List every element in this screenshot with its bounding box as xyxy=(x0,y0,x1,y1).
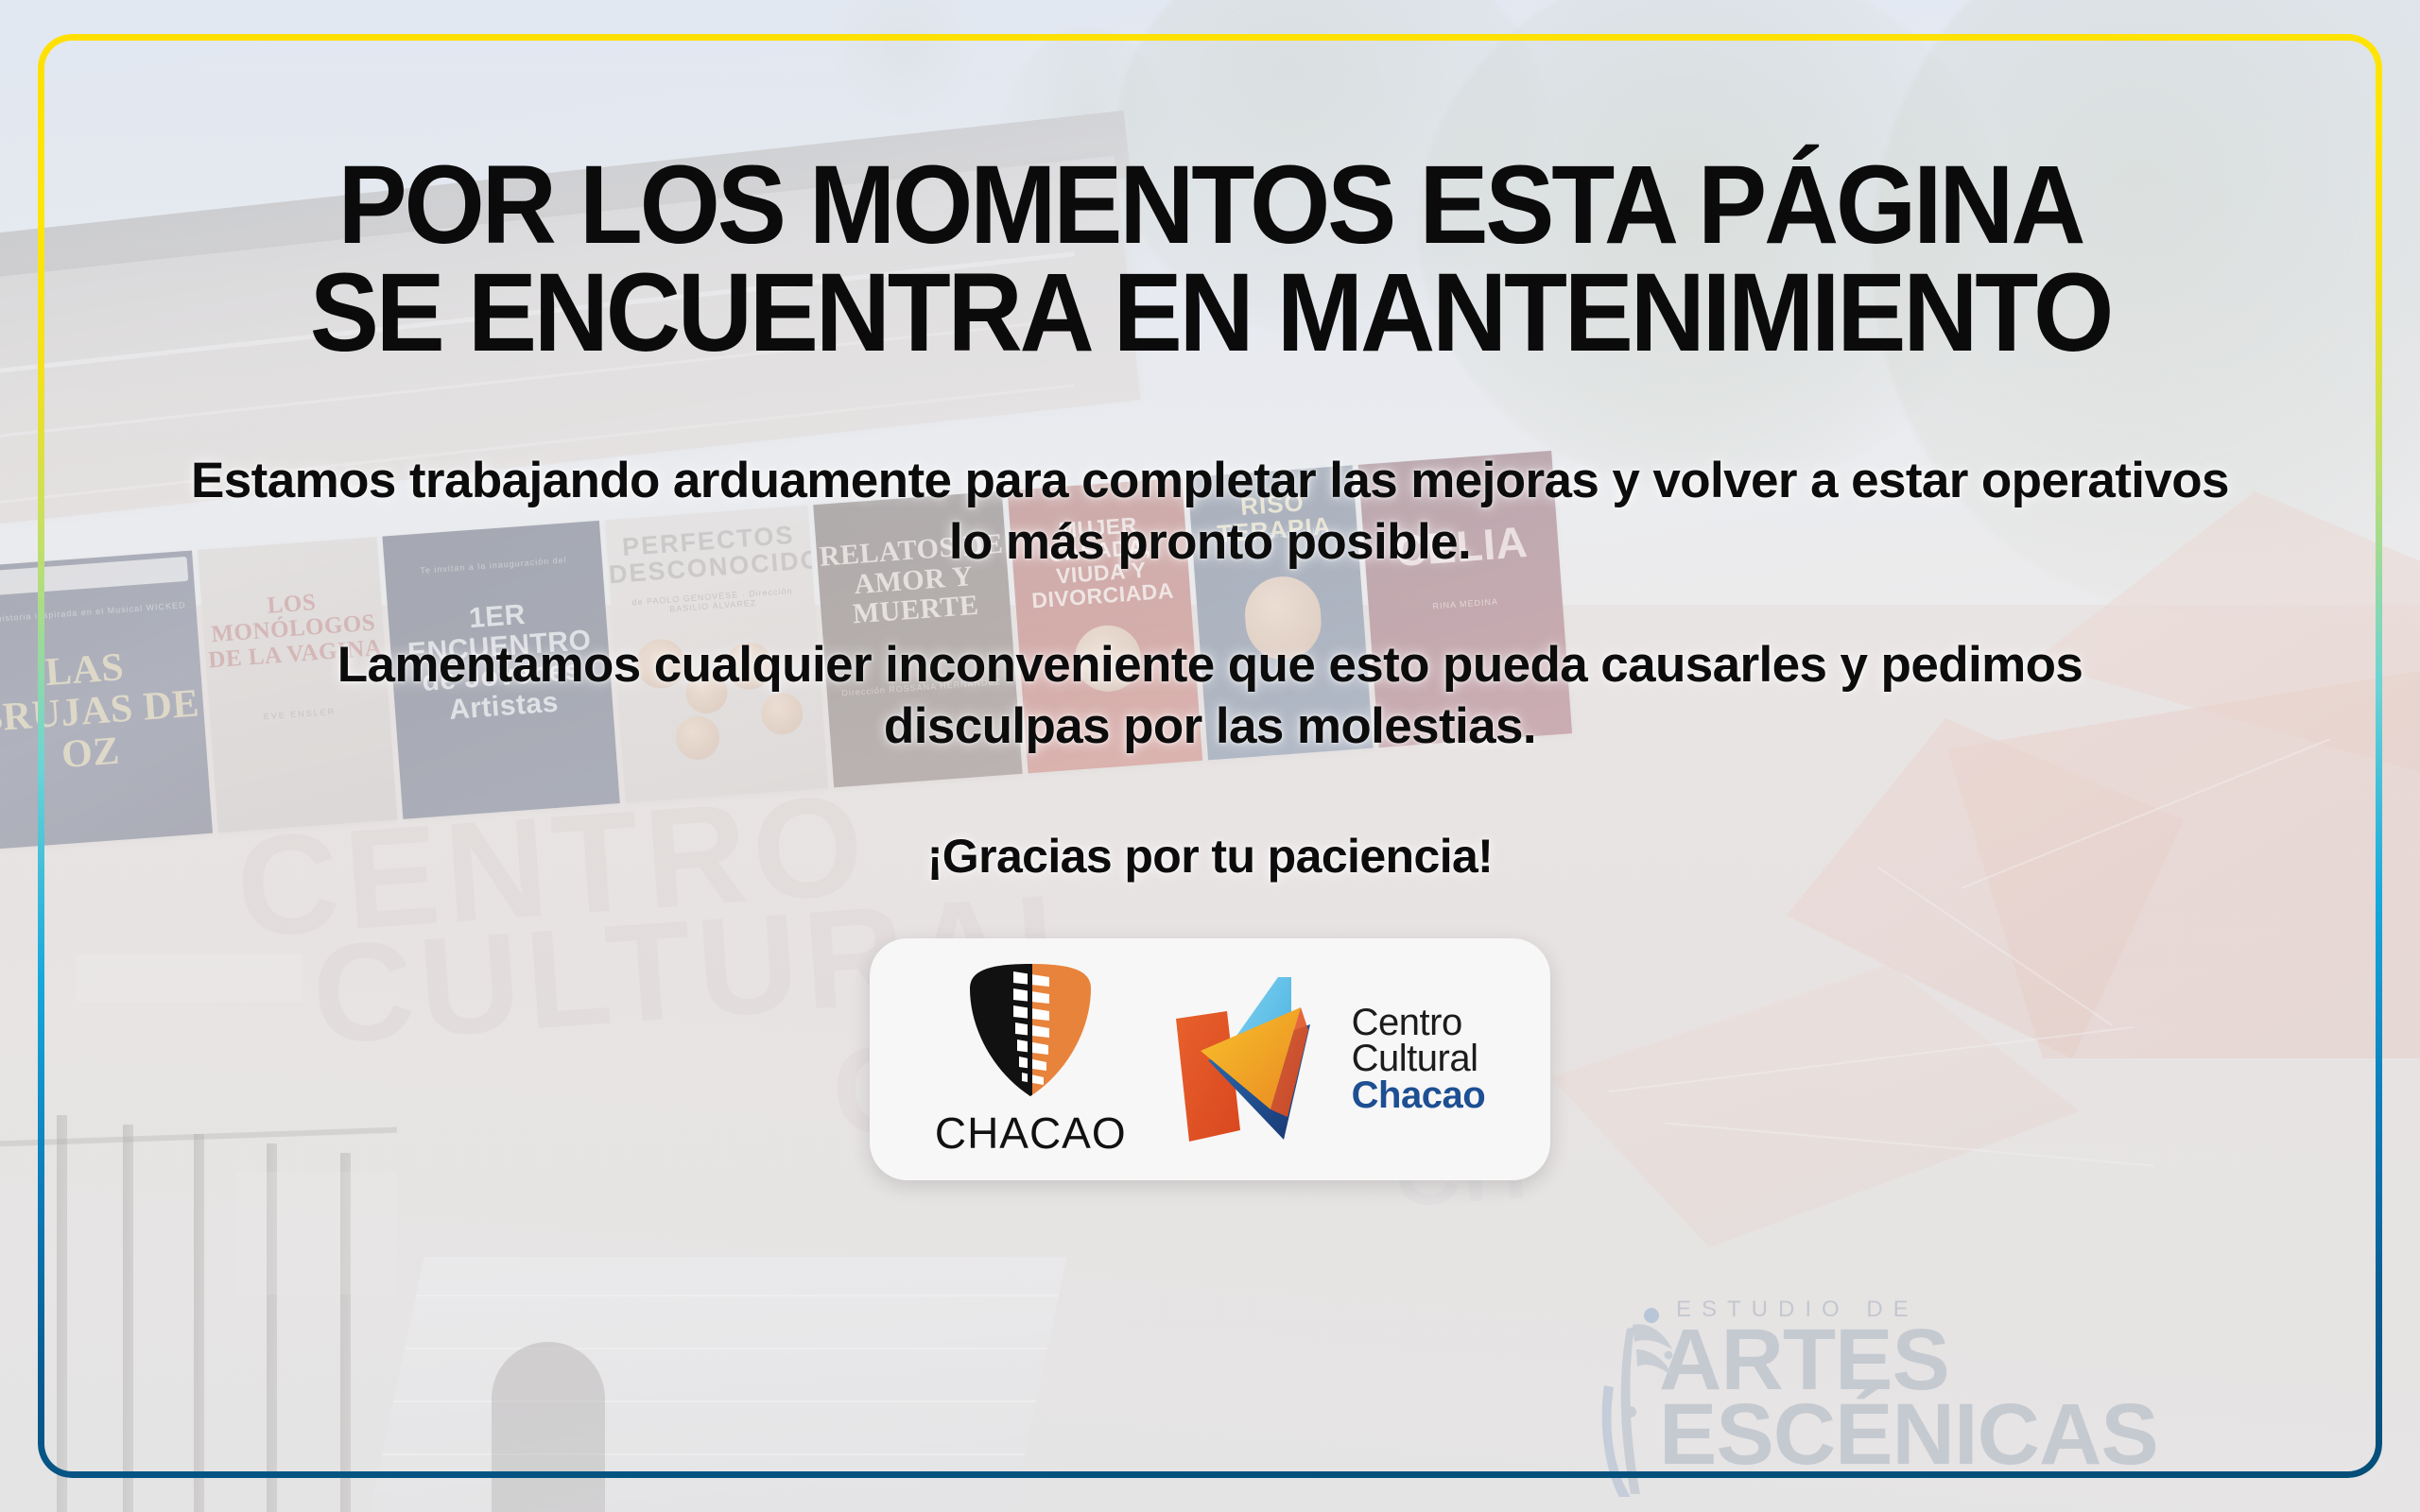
logo-card: CHACAO xyxy=(870,938,1550,1180)
chacao-logo-lockup[interactable]: CHACAO xyxy=(935,960,1127,1159)
thanks-message: ¡Gracias por tu paciencia! xyxy=(180,828,2240,885)
message-block: Estamos trabajando arduamente para compl… xyxy=(161,451,2259,885)
maintenance-paragraph-1: Estamos trabajando arduamente para compl… xyxy=(180,451,2240,573)
chacao-wordmark: CHACAO xyxy=(935,1108,1127,1159)
headline-line-1: POR LOS MOMENTOS ESTA PÁGINA xyxy=(309,151,2110,259)
chacao-shield-icon xyxy=(959,960,1102,1102)
ccc-line-2: Cultural xyxy=(1352,1040,1486,1076)
page-title: POR LOS MOMENTOS ESTA PÁGINA SE ENCUENTR… xyxy=(309,151,2110,368)
centro-cultural-chacao-wordmark: Centro Cultural Chacao xyxy=(1352,1005,1486,1113)
headline-line-2: SE ENCUENTRA EN MANTENIMIENTO xyxy=(309,259,2110,367)
ccc-line-1: Centro xyxy=(1352,1005,1486,1040)
centro-cultural-chacao-mark-icon xyxy=(1167,970,1346,1149)
maintenance-content: POR LOS MOMENTOS ESTA PÁGINA SE ENCUENTR… xyxy=(0,0,2420,1512)
maintenance-paragraph-2: Lamentamos cualquier inconveniente que e… xyxy=(236,635,2184,757)
centro-cultural-chacao-logo-lockup[interactable]: Centro Cultural Chacao xyxy=(1167,970,1486,1149)
ccc-line-3: Chacao xyxy=(1352,1077,1486,1113)
